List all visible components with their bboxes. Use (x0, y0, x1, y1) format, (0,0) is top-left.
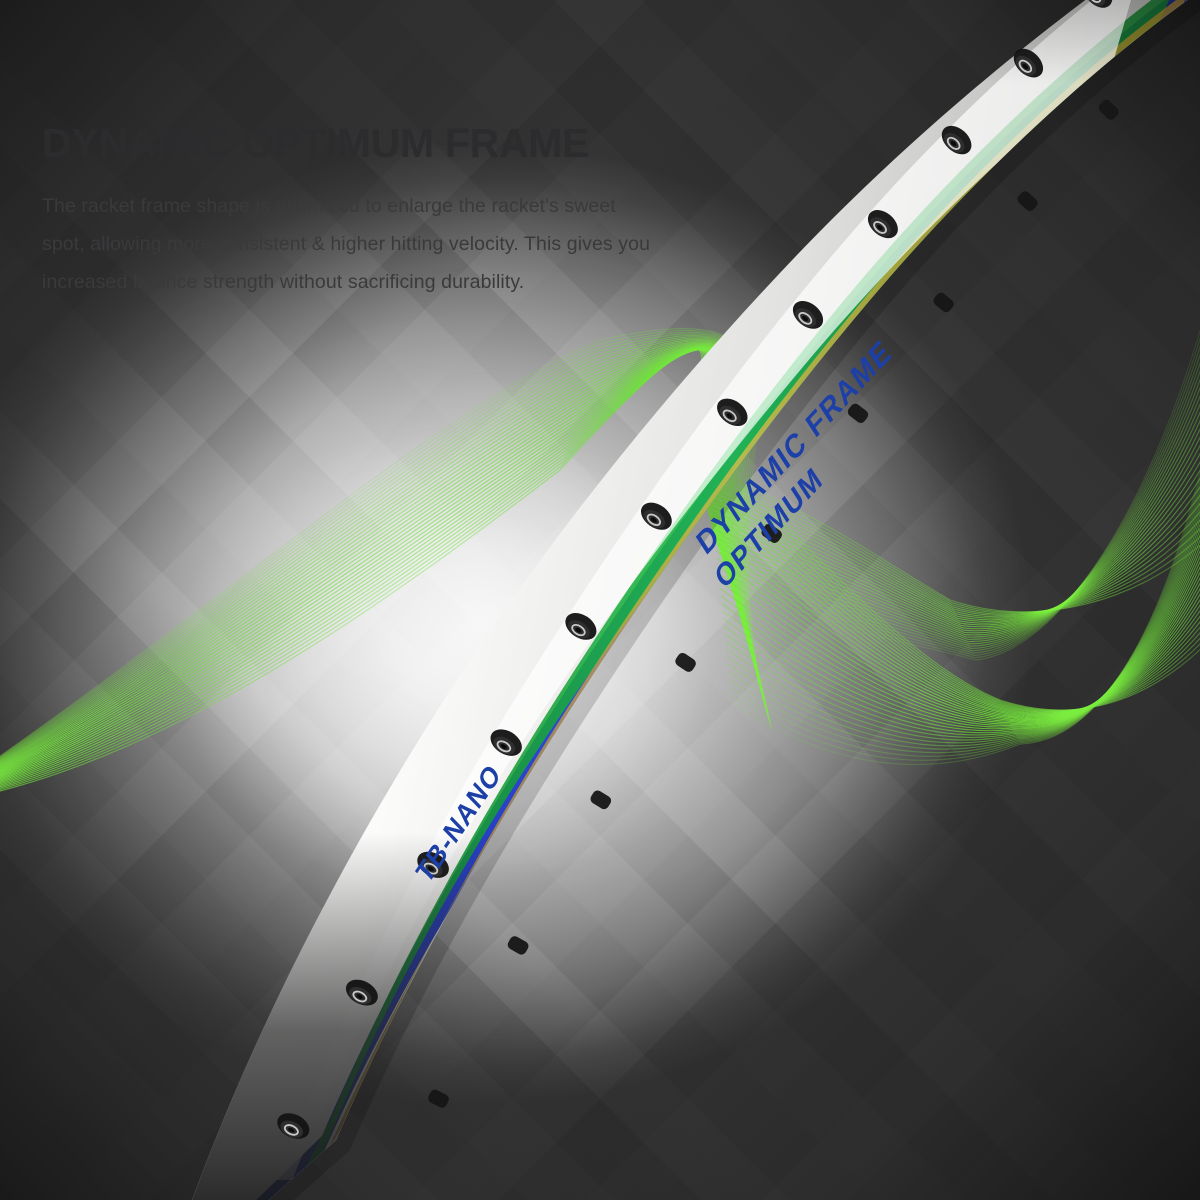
grommet-small (589, 789, 613, 811)
body-paragraph: The racket frame shape is optimized to e… (42, 187, 652, 301)
grommet-small (673, 651, 697, 674)
feature-banner: DYNAMIC FRAME OPTIMUM TB-NANO DYNAMIC OP… (0, 0, 1200, 1200)
page-title: DYNAMIC OPTIMUM FRAME (42, 122, 652, 165)
grommet-small (1015, 189, 1039, 213)
grommet-small (506, 934, 530, 956)
copy-block: DYNAMIC OPTIMUM FRAME The racket frame s… (42, 122, 652, 301)
grommet-small (426, 1088, 450, 1110)
grommet-small (1097, 98, 1121, 122)
grommet-small (931, 291, 955, 315)
